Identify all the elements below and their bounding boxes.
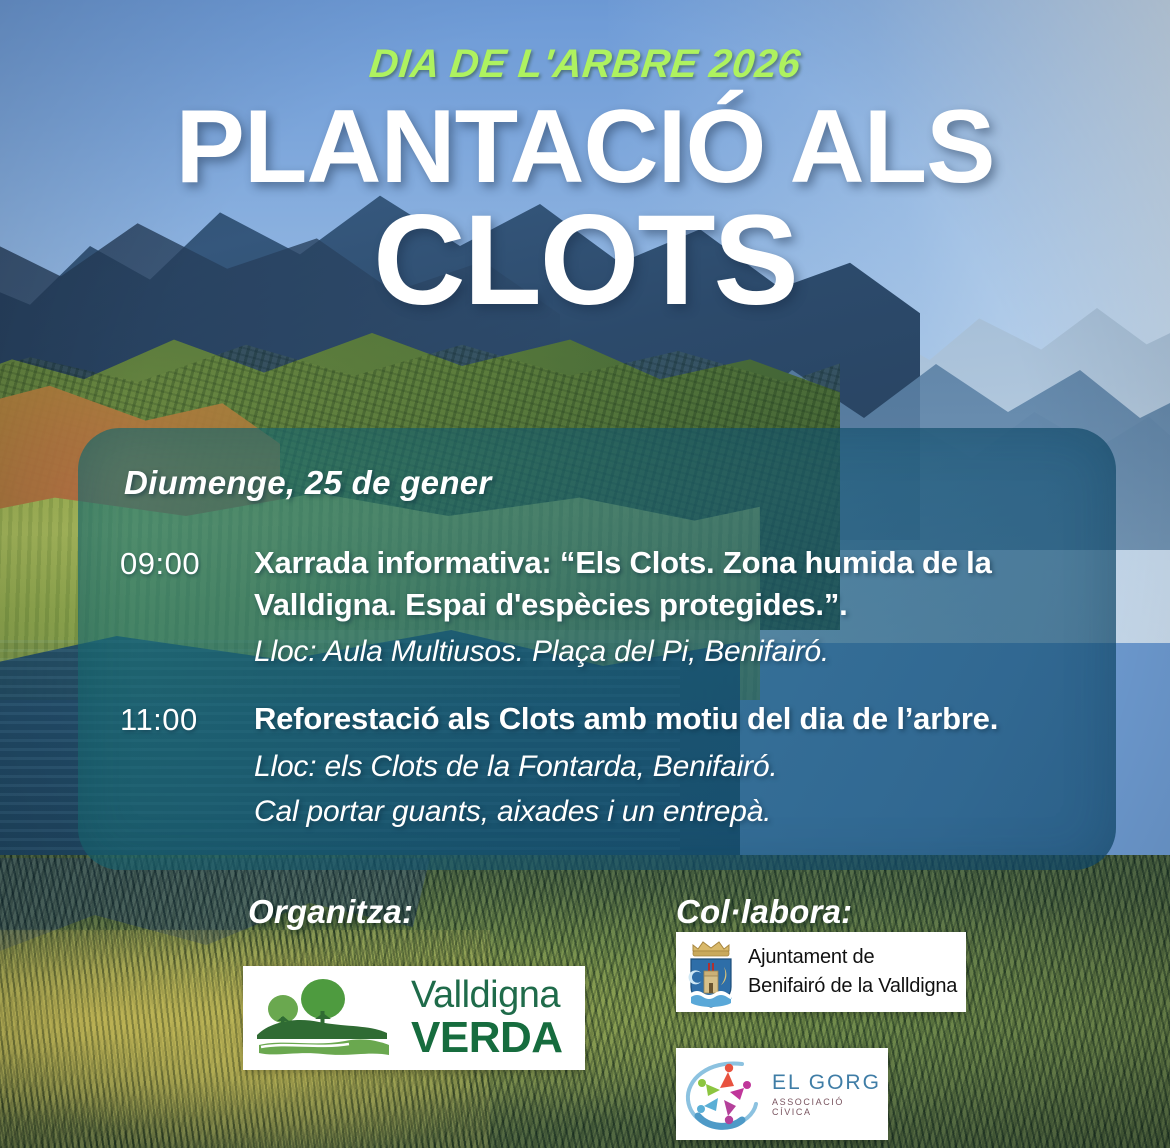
ajuntament-wordmark: Ajuntament de Benifairó de la Valldigna (748, 943, 957, 1001)
valldigna-verda-line1: Valldigna (411, 976, 563, 1014)
poster-kicker: DIA DE L'ARBRE 2026 (0, 42, 1170, 87)
el-gorg-line1: EL GORG (772, 1071, 882, 1094)
event-location: Lloc: Aula Multiusos. Plaça del Pi, Beni… (254, 631, 1082, 672)
event-body: Xarrada informativa: “Els Clots. Zona hu… (254, 542, 1082, 672)
event-title: Reforestació als Clots amb motiu del dia… (254, 698, 1082, 740)
logo-ajuntament: Ajuntament de Benifairó de la Valldigna (676, 932, 966, 1012)
poster-title-line2: CLOTS (0, 202, 1170, 320)
el-gorg-wordmark: EL GORG ASSOCIACIÓ CÍVICA (772, 1071, 882, 1118)
event-time: 11:00 (120, 698, 254, 832)
valldigna-verda-line2: VERDA (411, 1016, 563, 1060)
ajuntament-line2: Benifairó de la Valldigna (748, 972, 957, 1001)
event-time: 09:00 (120, 542, 254, 672)
people-circle-icon (682, 1054, 766, 1134)
logo-valldigna-verda: Valldigna VERDA (243, 966, 585, 1070)
valldigna-verda-wordmark: Valldigna VERDA (411, 976, 563, 1060)
logo-el-gorg: EL GORG ASSOCIACIÓ CÍVICA (676, 1048, 888, 1140)
event-body: Reforestació als Clots amb motiu del dia… (254, 698, 1082, 832)
hills-trees-icon (253, 975, 403, 1061)
schedule-event: 11:00 Reforestació als Clots amb motiu d… (120, 698, 1082, 832)
coat-of-arms-icon (684, 935, 738, 1009)
collabora-label: Col·labora: (676, 893, 852, 931)
event-title: Xarrada informativa: “Els Clots. Zona hu… (254, 542, 1082, 625)
event-location: Lloc: els Clots de la Fontarda, Benifair… (254, 746, 1082, 787)
event-note: Cal portar guants, aixades i un entrepà. (254, 791, 1082, 832)
organitza-label: Organitza: (248, 893, 413, 931)
event-poster: DIA DE L'ARBRE 2026 PLANTACIÓ ALS CLOTS … (0, 0, 1170, 1148)
poster-title: PLANTACIÓ ALS CLOTS (0, 100, 1170, 319)
schedule-event: 09:00 Xarrada informativa: “Els Clots. Z… (120, 542, 1082, 672)
schedule-date: Diumenge, 25 de gener (124, 464, 1082, 502)
el-gorg-line2: ASSOCIACIÓ CÍVICA (772, 1098, 882, 1118)
poster-title-line1: PLANTACIÓ ALS (0, 100, 1170, 196)
ajuntament-line1: Ajuntament de (748, 943, 957, 972)
schedule-panel: Diumenge, 25 de gener 09:00 Xarrada info… (78, 428, 1116, 870)
